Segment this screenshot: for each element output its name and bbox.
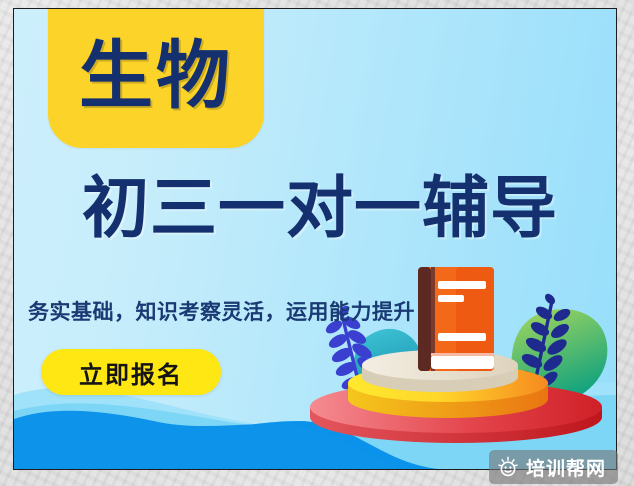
image-frame: 生物 初三一对一辅导 务实基础，知识考察灵活，运用能力提升 立即报名 培训帮网 (0, 0, 634, 486)
enroll-now-button[interactable]: 立即报名 (41, 349, 221, 395)
banner-canvas: 生物 初三一对一辅导 务实基础，知识考察灵活，运用能力提升 立即报名 (13, 8, 617, 470)
sun-face-icon (497, 456, 519, 478)
enroll-now-label: 立即报名 (79, 355, 183, 390)
watermark: 培训帮网 (489, 450, 618, 484)
subtitle-text: 务实基础，知识考察灵活，运用能力提升 (28, 296, 415, 326)
watermark-text: 培训帮网 (526, 454, 606, 481)
book-podium-illustration (300, 257, 617, 447)
subject-badge: 生物 (48, 8, 264, 148)
page-title: 初三一对一辅导 (22, 175, 617, 242)
subject-badge-label: 生物 (79, 39, 233, 113)
orange-book (418, 267, 494, 371)
